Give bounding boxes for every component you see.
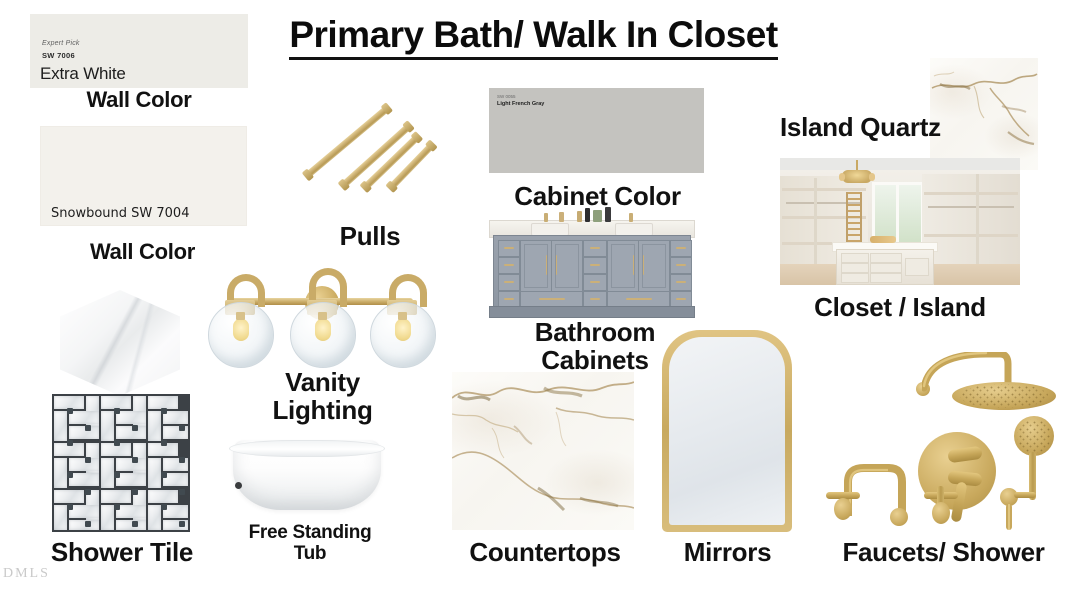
hand-shower-bracket	[1014, 492, 1036, 498]
closet-island-drawer	[841, 253, 869, 263]
paint-chip-cabinet-color: SW 0055 Light French Gray	[489, 88, 704, 173]
vanity-accessory-3	[593, 210, 602, 222]
light-globe-left	[208, 302, 274, 368]
mirror-image	[662, 330, 792, 532]
vanity-cabinet-body	[493, 235, 691, 309]
paint-chip-extra-white: Expert Pick SW 7006 Extra White	[30, 14, 248, 88]
light-bulb-base	[318, 312, 327, 320]
page-title-text: Primary Bath/ Walk In Closet	[289, 14, 777, 60]
light-bulb	[315, 319, 331, 341]
tub-rim	[229, 440, 385, 457]
paint-chip-meta: Expert Pick SW 7006	[42, 40, 80, 60]
closet-divider	[814, 178, 817, 268]
vanity-door	[520, 240, 552, 292]
closet-island-drawer	[841, 273, 869, 283]
closet-island-drawer	[870, 253, 902, 263]
hand-shower-head	[1014, 416, 1054, 456]
tub-drain	[235, 482, 242, 489]
faucet-handle-left-base	[834, 498, 852, 520]
caption-countertops: Countertops	[440, 538, 650, 566]
faucet-spout-base	[890, 508, 908, 526]
closet-island-drawer	[870, 263, 902, 273]
caption-line-1: Free Standing	[230, 523, 390, 544]
caption-island-quartz: Island Quartz	[780, 113, 960, 141]
caption-line-2: Lighting	[230, 396, 415, 424]
caption-line-1: Vanity	[230, 368, 415, 396]
vanity-accessory-1	[577, 211, 582, 222]
faucets-shower-image	[824, 340, 1064, 530]
vanity-drawer	[583, 257, 607, 274]
mirror-glass	[669, 337, 785, 525]
vanity-drawer	[498, 240, 520, 257]
cabinet-paint-name: Light French Gray	[497, 101, 544, 107]
vanity-accessory-4	[605, 207, 611, 222]
closet-window-right	[896, 182, 924, 250]
closet-divider	[976, 174, 979, 272]
free-standing-tub-image	[233, 440, 381, 510]
vanity-faucet-right	[629, 213, 633, 222]
closet-right-cabinetry	[922, 174, 1020, 272]
closet-shelf	[924, 234, 1018, 237]
countertops-swatch	[452, 372, 634, 530]
paint-code: SW 7006	[42, 51, 80, 60]
vanity-door	[638, 240, 670, 292]
vanity-drawer	[498, 257, 520, 274]
light-bulb	[395, 319, 411, 341]
paint-name: Extra White	[40, 64, 126, 84]
watermark: DMLS	[3, 566, 50, 582]
vanity-drawer	[498, 274, 520, 291]
vanity-drawer	[670, 240, 692, 257]
vanity-drawer	[583, 274, 607, 291]
pull-1	[304, 104, 391, 179]
pulls-group	[300, 95, 440, 205]
closet-island-decor	[870, 236, 896, 243]
light-bulb	[233, 319, 249, 341]
shower-hose	[1006, 504, 1012, 530]
vanity-accessory-2	[585, 208, 590, 222]
cabinet-chip-meta: SW 0055 Light French Gray	[497, 94, 544, 107]
paint-chip-snowbound: Snowbound SW 7004	[40, 126, 247, 226]
rain-shower-head	[952, 382, 1056, 410]
closet-island-panel	[905, 258, 929, 276]
vanity-drawer	[670, 274, 692, 291]
bathroom-cabinets-image	[489, 220, 695, 318]
caption-cabinet-color: Cabinet Color	[470, 182, 725, 210]
vanity-door	[607, 240, 639, 292]
caption-wall-color-1: Wall Color	[30, 88, 248, 112]
vanity-faucet-left	[544, 213, 548, 222]
closet-island-body	[836, 249, 934, 285]
closet-ladder	[846, 192, 862, 244]
expert-pick-label: Expert Pick	[42, 40, 80, 47]
caption-vanity-lighting: Vanity Lighting	[230, 368, 415, 424]
paint-swatch-snowbound: Snowbound SW 7004	[41, 127, 246, 225]
caption-faucets-shower: Faucets/ Shower	[820, 538, 1067, 566]
light-globe-right	[370, 302, 436, 368]
closet-island-drawer	[841, 263, 869, 273]
countertop-veining	[452, 372, 634, 530]
pull-4	[387, 141, 435, 190]
closet-island-image	[780, 158, 1020, 285]
caption-closet-island: Closet / Island	[780, 293, 1020, 321]
caption-pulls: Pulls	[290, 222, 450, 250]
caption-shower-tile: Shower Tile	[22, 538, 222, 566]
vanity-drawer	[670, 257, 692, 274]
hexagon-tile-face	[60, 290, 180, 396]
closet-chandelier	[838, 160, 876, 190]
paint-name-snowbound: Snowbound SW 7004	[51, 206, 189, 221]
vanity-lighting-image	[205, 258, 435, 368]
caption-mirrors: Mirrors	[655, 538, 800, 566]
hexagon-tile	[60, 290, 180, 396]
caption-line-2: Tub	[230, 544, 390, 565]
light-bulb-base	[398, 312, 407, 320]
closet-island-drawer	[870, 273, 902, 283]
vanity-door	[551, 240, 583, 292]
closet-shelf	[924, 192, 1018, 195]
caption-free-standing-tub: Free Standing Tub	[230, 523, 390, 564]
light-globe-center	[290, 302, 356, 368]
weave-unit	[52, 394, 190, 532]
paint-swatch-extra-white: Expert Pick SW 7006 Extra White	[30, 14, 248, 88]
cabinet-paint-code: SW 0055	[497, 94, 544, 99]
closet-rod	[928, 206, 1014, 208]
faucet-handle-right-base	[932, 502, 950, 524]
design-board: Primary Bath/ Walk In Closet Expert Pick…	[0, 0, 1067, 600]
light-bulb-base	[236, 312, 245, 320]
vanity-drawer	[583, 240, 607, 257]
basketweave-mosaic-tile	[52, 394, 190, 532]
vanity-accessory-5	[559, 212, 564, 222]
